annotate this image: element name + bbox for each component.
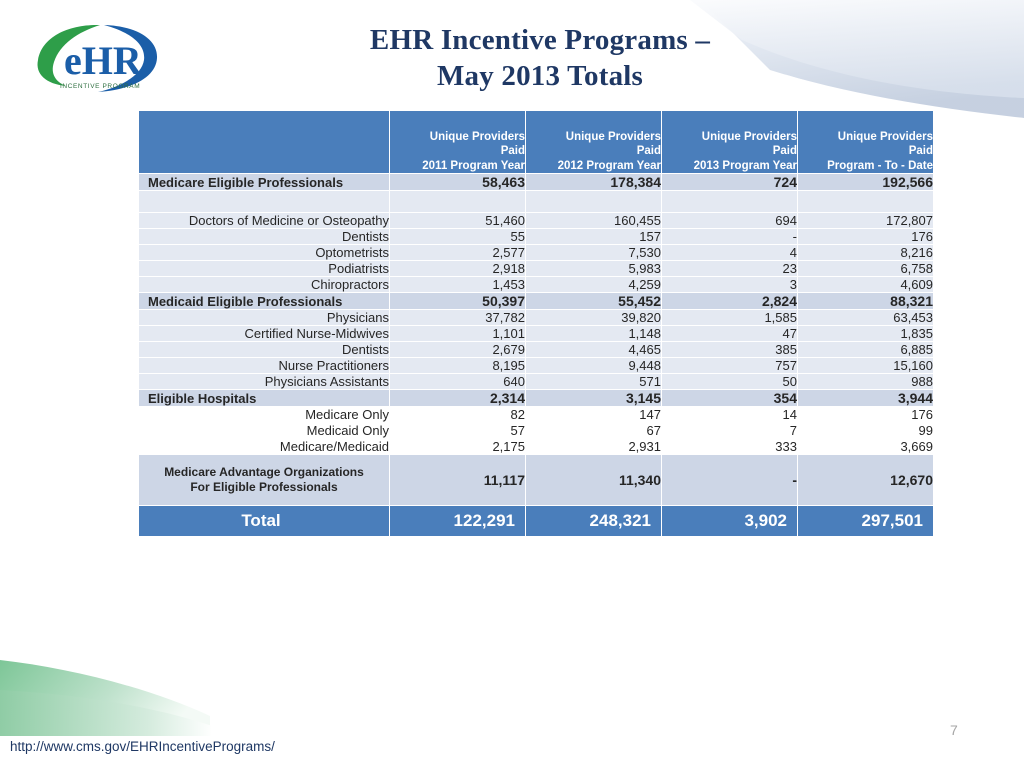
column-header-2012: Unique Providers Paid 2012 Program Year (526, 111, 661, 173)
row-value: 297,501 (798, 506, 933, 536)
row-label: Physicians (139, 310, 389, 325)
table-row: Optometrists2,5777,53048,216 (139, 245, 933, 260)
row-value: 8,195 (390, 358, 525, 373)
row-value: 1,148 (526, 326, 661, 341)
row-value: 757 (662, 358, 797, 373)
column-header-2013: Unique Providers Paid 2013 Program Year (662, 111, 797, 173)
row-value: 2,918 (390, 261, 525, 276)
row-value: 9,448 (526, 358, 661, 373)
row-value: 571 (526, 374, 661, 389)
row-value: 3,145 (526, 390, 661, 406)
row-value: 2,824 (662, 293, 797, 309)
row-value: 176 (798, 407, 933, 422)
row-label: Podiatrists (139, 261, 389, 276)
table-row: Physicians37,78239,8201,58563,453 (139, 310, 933, 325)
row-value: 694 (662, 213, 797, 228)
page-number: 7 (950, 722, 958, 738)
table-row: Eligible Hospitals2,3143,1453543,944 (139, 390, 933, 406)
row-value: 2,679 (390, 342, 525, 357)
ehr-incentive-program-logo: eHR INCENTIVE PROGRAM (26, 16, 176, 100)
row-label: Optometrists (139, 245, 389, 260)
row-label: Doctors of Medicine or Osteopathy (139, 213, 389, 228)
row-value: 37,782 (390, 310, 525, 325)
row-value: 55,452 (526, 293, 661, 309)
row-value: 82 (390, 407, 525, 422)
row-value: 11,117 (390, 455, 525, 505)
logo-tagline: INCENTIVE PROGRAM (60, 83, 140, 90)
row-value: 50,397 (390, 293, 525, 309)
column-header-2011: Unique Providers Paid 2011 Program Year (390, 111, 525, 173)
row-value: 12,670 (798, 455, 933, 505)
column-header-2012-line3: 2012 Program Year (526, 159, 661, 174)
column-header-2012-line2: Paid (526, 144, 661, 159)
row-label: Medicare Only (139, 407, 389, 422)
row-value: 4,465 (526, 342, 661, 357)
row-value: 50 (662, 374, 797, 389)
row-value: 248,321 (526, 506, 661, 536)
row-value: 3,669 (798, 439, 933, 454)
row-value: 15,160 (798, 358, 933, 373)
column-header-2011-line2: Paid (390, 144, 525, 159)
row-value (798, 191, 933, 212)
row-value: 333 (662, 439, 797, 454)
table-row: Doctors of Medicine or Osteopathy51,4601… (139, 213, 933, 228)
row-value: 4,609 (798, 277, 933, 292)
column-header-2013-line3: 2013 Program Year (662, 159, 797, 174)
column-header-ptd-line1: Unique Providers (798, 130, 933, 145)
row-value: 51,460 (390, 213, 525, 228)
table-row: Chiropractors1,4534,25934,609 (139, 277, 933, 292)
table-row (139, 191, 933, 212)
row-value: 1,101 (390, 326, 525, 341)
column-header-2011-line3: 2011 Program Year (390, 159, 525, 174)
row-label: Chiropractors (139, 277, 389, 292)
row-value: 88,321 (798, 293, 933, 309)
table-row: Total122,291248,3213,902297,501 (139, 506, 933, 536)
column-header-ptd-line2: Paid (798, 144, 933, 159)
row-value: 176 (798, 229, 933, 244)
row-value: 4 (662, 245, 797, 260)
column-header-program-to-date: Unique Providers Paid Program - To - Dat… (798, 111, 933, 173)
row-label: Medicaid Only (139, 423, 389, 438)
row-value: 6,758 (798, 261, 933, 276)
row-value: 39,820 (526, 310, 661, 325)
row-label: Total (139, 506, 389, 536)
row-value: 3,902 (662, 506, 797, 536)
table-row: Medicare/Medicaid2,1752,9313333,669 (139, 439, 933, 454)
row-label: Certified Nurse-Midwives (139, 326, 389, 341)
row-value: 385 (662, 342, 797, 357)
table-row: Dentists55157-176 (139, 229, 933, 244)
column-header-ptd-line3: Program - To - Date (798, 159, 933, 174)
row-value: 192,566 (798, 174, 933, 190)
row-value: 2,577 (390, 245, 525, 260)
row-value: 2,175 (390, 439, 525, 454)
column-header-category (139, 111, 389, 173)
row-value: 7 (662, 423, 797, 438)
row-value: 23 (662, 261, 797, 276)
table-row: Medicare Eligible Professionals58,463178… (139, 174, 933, 190)
row-value: - (662, 229, 797, 244)
row-label: Eligible Hospitals (139, 390, 389, 406)
row-value: 2,931 (526, 439, 661, 454)
table-header-row: Unique Providers Paid 2011 Program Year … (139, 111, 933, 173)
row-value: - (662, 455, 797, 505)
row-value: 988 (798, 374, 933, 389)
bg-swoosh-bottom-left-2 (0, 690, 212, 736)
row-value: 178,384 (526, 174, 661, 190)
row-label (139, 191, 389, 212)
row-label-line2: For Eligible Professionals (145, 480, 383, 495)
row-value: 99 (798, 423, 933, 438)
column-header-2012-line1: Unique Providers (526, 130, 661, 145)
table-row: Medicare Advantage OrganizationsFor Elig… (139, 455, 933, 505)
row-value (526, 191, 661, 212)
row-value: 640 (390, 374, 525, 389)
table-row: Nurse Practitioners8,1959,44875715,160 (139, 358, 933, 373)
table-row: Medicaid Eligible Professionals50,39755,… (139, 293, 933, 309)
row-label: Physicians Assistants (139, 374, 389, 389)
row-value (662, 191, 797, 212)
row-value: 1,453 (390, 277, 525, 292)
table-row: Medicare Only8214714176 (139, 407, 933, 422)
row-label-line1: Medicare Advantage Organizations (145, 465, 383, 480)
bg-swoosh-bottom-left-1 (0, 660, 210, 736)
row-value: 58,463 (390, 174, 525, 190)
table-row: Dentists2,6794,4653856,885 (139, 342, 933, 357)
row-label: Nurse Practitioners (139, 358, 389, 373)
column-header-2011-line1: Unique Providers (390, 130, 525, 145)
row-label: Dentists (139, 342, 389, 357)
row-value: 8,216 (798, 245, 933, 260)
row-label: Medicare Eligible Professionals (139, 174, 389, 190)
row-value: 55 (390, 229, 525, 244)
row-value: 6,885 (798, 342, 933, 357)
row-value: 11,340 (526, 455, 661, 505)
row-label: Dentists (139, 229, 389, 244)
row-value: 63,453 (798, 310, 933, 325)
table-row: Physicians Assistants64057150988 (139, 374, 933, 389)
row-value: 67 (526, 423, 661, 438)
ehr-totals-table: Unique Providers Paid 2011 Program Year … (138, 110, 934, 537)
row-value: 5,983 (526, 261, 661, 276)
page-title-line1: EHR Incentive Programs – (230, 22, 850, 58)
row-value: 3,944 (798, 390, 933, 406)
row-value: 354 (662, 390, 797, 406)
row-value: 160,455 (526, 213, 661, 228)
row-value: 157 (526, 229, 661, 244)
row-value: 47 (662, 326, 797, 341)
row-label-multiline: Medicare Advantage OrganizationsFor Elig… (139, 455, 389, 505)
row-value: 724 (662, 174, 797, 190)
row-label: Medicaid Eligible Professionals (139, 293, 389, 309)
row-value: 1,835 (798, 326, 933, 341)
logo-wordmark: eHR (64, 38, 143, 83)
row-value: 172,807 (798, 213, 933, 228)
row-value: 4,259 (526, 277, 661, 292)
table-row: Certified Nurse-Midwives1,1011,148471,83… (139, 326, 933, 341)
table-header: Unique Providers Paid 2011 Program Year … (139, 111, 933, 173)
totals-table-container: Unique Providers Paid 2011 Program Year … (138, 110, 934, 537)
row-value: 122,291 (390, 506, 525, 536)
table-row: Medicaid Only5767799 (139, 423, 933, 438)
row-label: Medicare/Medicaid (139, 439, 389, 454)
row-value: 2,314 (390, 390, 525, 406)
page-title: EHR Incentive Programs – May 2013 Totals (230, 22, 850, 94)
row-value (390, 191, 525, 212)
row-value: 1,585 (662, 310, 797, 325)
row-value: 57 (390, 423, 525, 438)
table-body: Medicare Eligible Professionals58,463178… (139, 174, 933, 536)
table-row: Podiatrists2,9185,983236,758 (139, 261, 933, 276)
page-title-line2: May 2013 Totals (230, 58, 850, 94)
column-header-2013-line1: Unique Providers (662, 130, 797, 145)
row-value: 7,530 (526, 245, 661, 260)
row-value: 14 (662, 407, 797, 422)
column-header-2013-line2: Paid (662, 144, 797, 159)
footer-url[interactable]: http://www.cms.gov/EHRIncentivePrograms/ (10, 739, 275, 754)
row-value: 3 (662, 277, 797, 292)
row-value: 147 (526, 407, 661, 422)
